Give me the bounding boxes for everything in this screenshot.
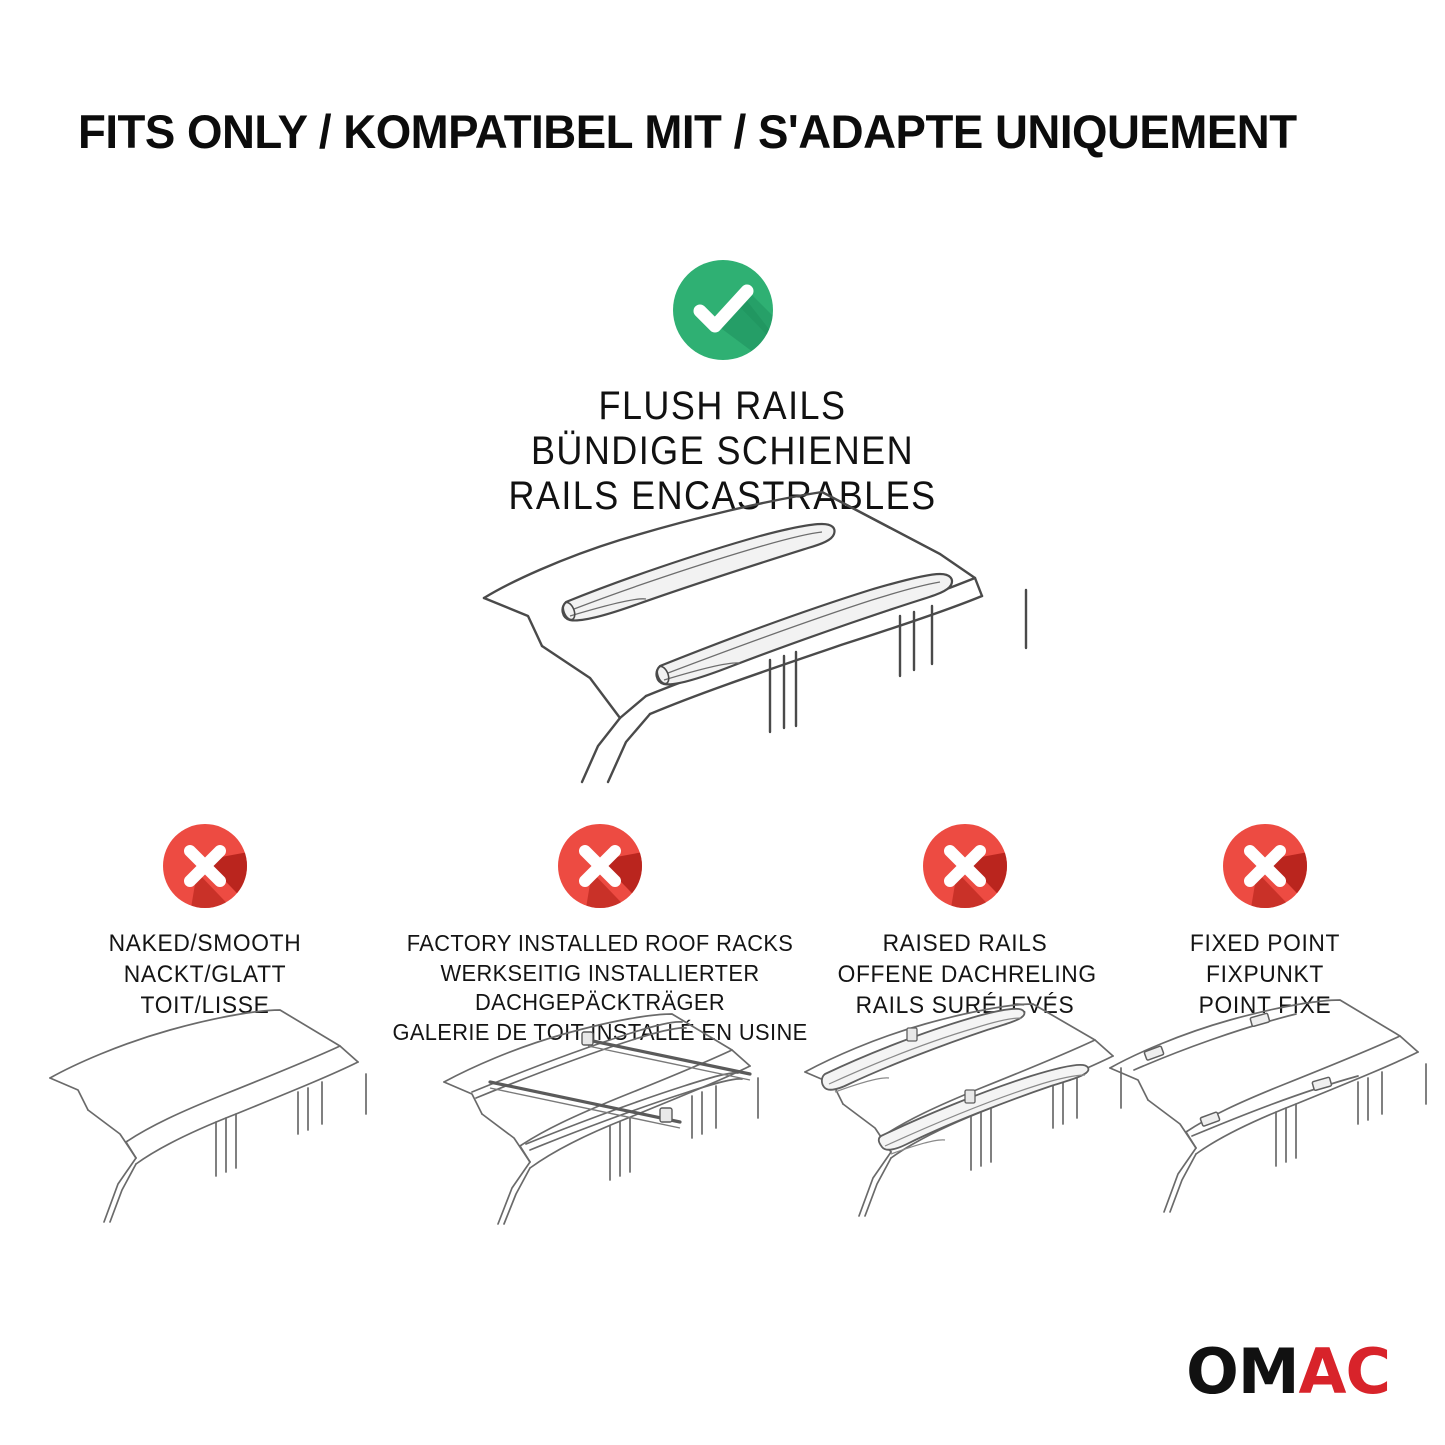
flush-rails-roof-illustration bbox=[470, 470, 1030, 790]
label-en: FIXED POINT bbox=[1121, 929, 1409, 960]
incompatible-section: NAKED/SMOOTH NACKT/GLATT TOIT/LISSE bbox=[0, 820, 1445, 1240]
label-de: FIXPUNKT bbox=[1121, 960, 1409, 991]
omac-logo: OMAC bbox=[1186, 1341, 1390, 1403]
compatible-label-en: FLUSH RAILS bbox=[72, 384, 1373, 429]
compatibility-infographic: FITS ONLY / KOMPATIBEL MIT / S'ADAPTE UN… bbox=[0, 0, 1445, 1445]
check-circle-icon bbox=[668, 255, 778, 365]
logo-text-accent: AC bbox=[1299, 1335, 1390, 1408]
label-en: RAISED RAILS bbox=[838, 929, 1093, 960]
label-de: OFFENE DACHRELING bbox=[838, 960, 1093, 991]
label-de-1: WERKSEITIG INSTALLIERTER bbox=[388, 959, 812, 989]
logo-text-dark: OM bbox=[1186, 1335, 1298, 1408]
label-de: NACKT/GLATT bbox=[52, 960, 359, 991]
incompatible-item-raised-rails: RAISED RAILS OFFENE DACHRELING RAILS SUR… bbox=[828, 820, 1102, 1022]
bare-roof-illustration bbox=[40, 1006, 370, 1231]
label-en: FACTORY INSTALLED ROOF RACKS bbox=[388, 929, 812, 959]
roof-with-crossbars-illustration bbox=[430, 996, 770, 1231]
page-title: FITS ONLY / KOMPATIBEL MIT / S'ADAPTE UN… bbox=[78, 108, 1339, 155]
x-circle-icon bbox=[554, 820, 646, 917]
raised-rails-roof-illustration bbox=[795, 996, 1135, 1231]
x-circle-icon bbox=[919, 820, 1011, 917]
label-en: NAKED/SMOOTH bbox=[52, 929, 359, 960]
fixed-point-roof-illustration bbox=[1100, 996, 1430, 1221]
compatible-label-de: BÜNDIGE SCHIENEN bbox=[72, 429, 1373, 474]
x-circle-icon bbox=[1219, 820, 1311, 917]
incompatible-item-factory-roof-racks: FACTORY INSTALLED ROOF RACKS WERKSEITIG … bbox=[372, 820, 828, 1047]
incompatible-item-naked-smooth: NAKED/SMOOTH NACKT/GLATT TOIT/LISSE bbox=[40, 820, 370, 1022]
incompatible-item-fixed-point: FIXED POINT FIXPUNKT POINT FIXE bbox=[1110, 820, 1420, 1022]
x-circle-icon bbox=[159, 820, 251, 917]
